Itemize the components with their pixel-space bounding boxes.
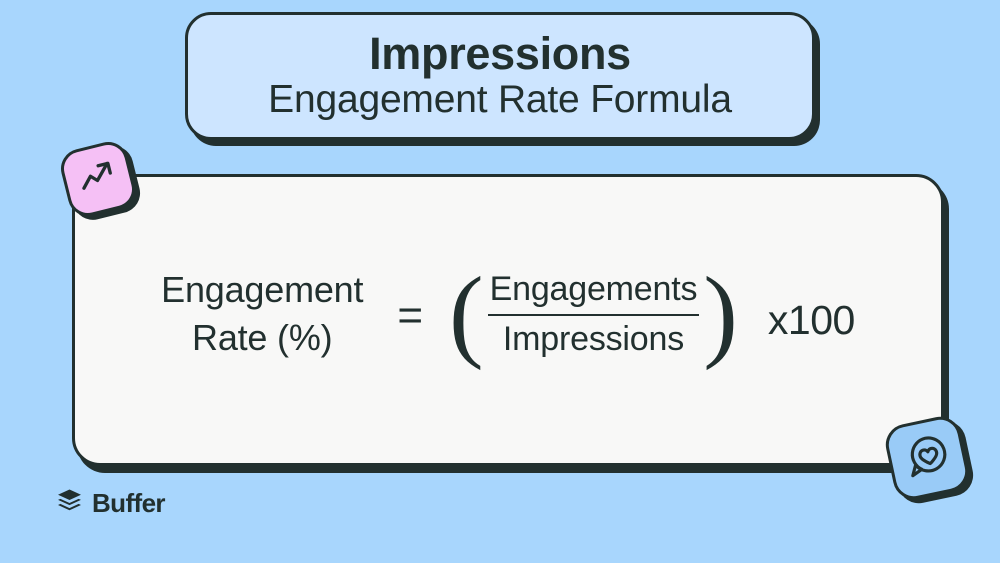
paren-open: ( — [449, 271, 484, 356]
formula-left-side: Engagement Rate (%) — [161, 266, 363, 361]
buffer-wordmark: Buffer — [92, 488, 165, 519]
chat-heart-badge — [882, 413, 972, 503]
page-title: Impressions — [369, 30, 631, 77]
fraction-numerator: Engagements — [488, 268, 700, 310]
paren-close: ) — [703, 271, 738, 356]
formula-card: Engagement Rate (%) = ( Engagements Impr… — [72, 174, 944, 466]
engagement-rate-formula: Engagement Rate (%) = ( Engagements Impr… — [161, 266, 855, 361]
buffer-logo: Buffer — [56, 487, 165, 519]
multiplier: x100 — [768, 297, 855, 344]
chat-heart-icon — [898, 427, 956, 489]
trending-up-icon — [73, 152, 123, 205]
buffer-layers-icon — [56, 487, 83, 519]
equals-sign: = — [397, 294, 423, 338]
formula-left-line2: Rate (%) — [161, 314, 363, 362]
title-banner: Impressions Engagement Rate Formula — [185, 12, 815, 140]
formula-left-line1: Engagement — [161, 269, 363, 310]
page-subtitle: Engagement Rate Formula — [268, 79, 732, 122]
fraction-bar — [488, 314, 700, 316]
fraction-denominator: Impressions — [501, 318, 686, 360]
fraction: Engagements Impressions — [488, 268, 700, 359]
